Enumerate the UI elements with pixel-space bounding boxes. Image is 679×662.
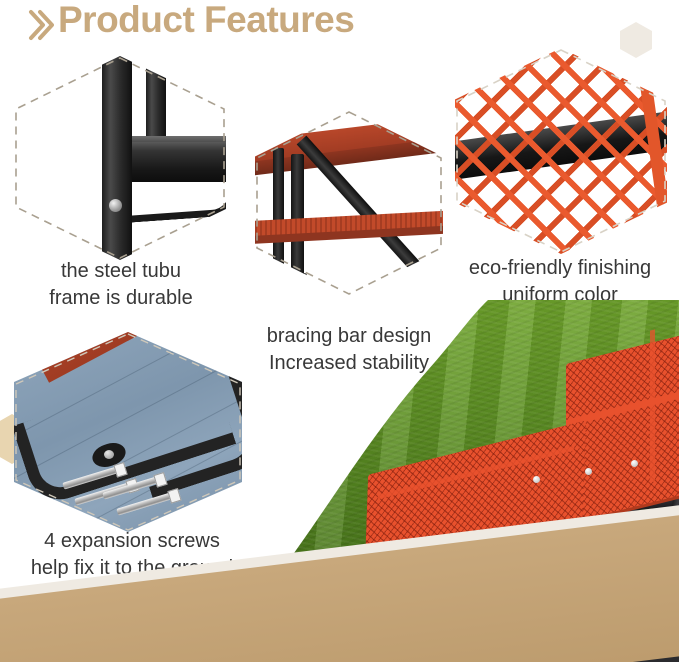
bolt-icon bbox=[109, 199, 122, 212]
header: Product Features bbox=[0, 0, 679, 58]
bolt-icon bbox=[631, 460, 638, 467]
caption-line-2: frame is durable bbox=[16, 285, 226, 312]
feature-caption-steel-tube-frame: the steel tubu frame is durable bbox=[16, 258, 226, 311]
decorative-hexagon bbox=[620, 22, 652, 58]
product-features-infographic: Product Features the steel tubu frame is… bbox=[0, 0, 679, 662]
steel-hook-bracket bbox=[125, 174, 226, 223]
steel-post-main bbox=[102, 56, 132, 260]
feature-image-expansion-screws bbox=[14, 332, 242, 532]
expanded-metal-mesh bbox=[455, 48, 667, 254]
bolt-icon bbox=[585, 468, 592, 475]
feature-image-eco-friendly-finish bbox=[455, 48, 667, 254]
feature-image-steel-tube-frame bbox=[14, 56, 226, 260]
caption-line-1: the steel tubu bbox=[16, 258, 226, 285]
caption-line-1: 4 expansion screws bbox=[8, 528, 256, 555]
tabletop-rib-vertical bbox=[650, 329, 655, 482]
page-title: Product Features bbox=[58, 0, 354, 41]
bolt-icon bbox=[533, 476, 540, 483]
double-chevron-right-icon bbox=[28, 8, 54, 42]
feature-image-bracing-bar bbox=[255, 110, 443, 296]
caption-line-1: eco-friendly finishing bbox=[446, 255, 674, 282]
anchor-bolt-icon bbox=[104, 450, 114, 459]
